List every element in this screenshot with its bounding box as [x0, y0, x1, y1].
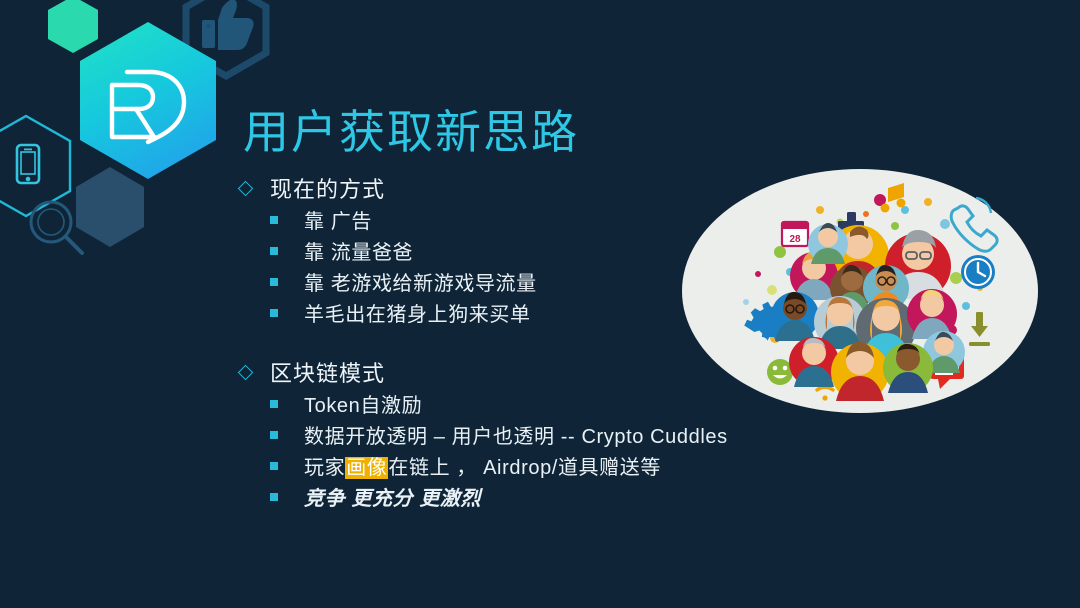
square-bullet-icon: [236, 247, 304, 255]
bullet-item-label: Token自激励: [304, 389, 422, 418]
illustration-svg: 28: [680, 166, 1040, 416]
square-bullet-icon: [236, 462, 304, 470]
page-title: 用户获取新思路: [243, 96, 579, 162]
bullet-item: 数据开放透明 – 用户也透明 -- Crypto Cuddles: [236, 419, 766, 450]
bullet-item-label: 靠 流量爸爸: [304, 236, 413, 265]
avatar: [771, 292, 819, 341]
thumbs-up-icon: [202, 0, 254, 50]
bullet-item: 竞争 更充分 更激烈: [236, 481, 766, 512]
bullet-item-label: 靠 老游戏给新游戏导流量: [304, 267, 537, 296]
brand-hexagon: [80, 22, 216, 179]
square-bullet-icon: [236, 431, 304, 439]
square-bullet-icon: [236, 493, 304, 501]
square-bullet-icon: [236, 216, 304, 224]
crowd-of-people-illustration: 28: [680, 166, 1040, 416]
square-bullet-icon: [236, 400, 304, 408]
avatar: [789, 337, 839, 387]
diamond-bullet-icon: [236, 183, 270, 194]
bullet-heading-label: 区块链模式: [270, 356, 385, 388]
bullet-heading-label: 现在的方式: [270, 172, 385, 204]
clock-icon: [961, 255, 995, 289]
text-post: 在链上 ， Airdrop/道具赠送等: [388, 457, 661, 479]
square-bullet-icon: [236, 278, 304, 286]
calendar-day-label: 28: [789, 234, 801, 245]
square-bullet-icon: [236, 309, 304, 317]
bullet-item-label-highlighted: 玩家画像在链上 ， Airdrop/道具赠送等: [304, 451, 661, 480]
steel-hexagon: [76, 167, 144, 247]
bullet-item-label: 羊毛出在猪身上狗来买单: [304, 298, 531, 327]
bullet-item-label: 靠 广告: [304, 205, 372, 234]
phone-icon: [17, 145, 39, 183]
teal-hexagon: [48, 0, 98, 53]
bullet-item: 玩家画像在链上 ， Airdrop/道具赠送等: [236, 450, 766, 481]
bullet-item-label-emphasis: 竞争 更充分 更激烈: [304, 482, 481, 511]
text-pre: 玩家: [304, 457, 345, 479]
calendar-icon: 28: [782, 222, 808, 246]
avatar: [907, 289, 957, 339]
diamond-bullet-icon: [236, 367, 270, 378]
slide-canvas: 用户获取新思路 现在的方式 靠 广告 靠 流量爸爸 靠 老游戏给新游戏导流量: [0, 0, 1080, 608]
avatar: [883, 343, 933, 393]
highlighted-term: 画像: [345, 457, 388, 479]
bullet-item-label: 数据开放透明 – 用户也透明 -- Crypto Cuddles: [304, 420, 728, 449]
